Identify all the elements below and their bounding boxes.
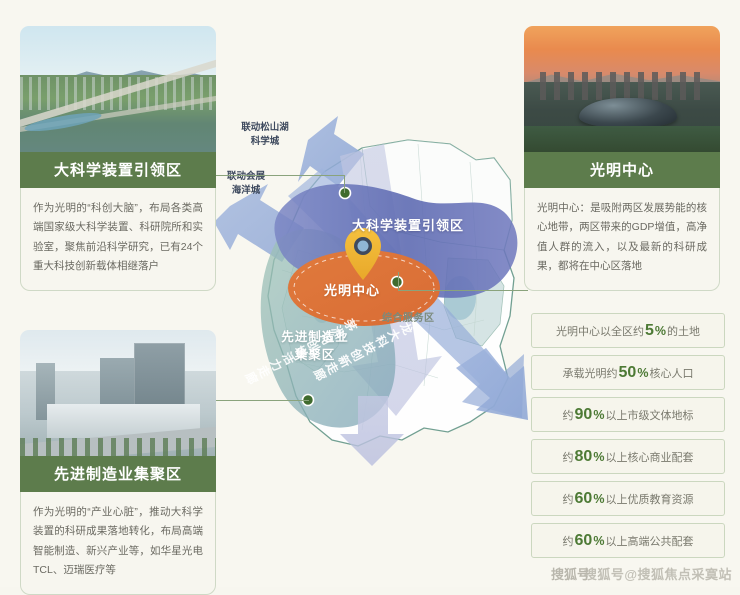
card-body-big-science: 作为光明的“科创大脑”，布局各类高端国家级大科学装置、科研院所和实验室，聚焦前沿… [20, 188, 216, 291]
stat-prefix-4: 约 [563, 491, 574, 507]
stat-item-1[interactable]: 承载光明约50%核心人口 [531, 355, 725, 390]
stat-item-2[interactable]: 约90%以上市级文体地标 [531, 397, 725, 432]
stat-value-2: 90 [575, 406, 593, 424]
arrow-label-huizhan: 联动会展 海洋城 [207, 170, 285, 199]
card-title-center: 光明中心 [524, 152, 720, 188]
card-photo-center [524, 26, 720, 154]
stat-unit-4: % [593, 492, 604, 506]
arrow-label-huizhan-line2: 海洋城 [207, 184, 285, 198]
stat-value-3: 80 [575, 448, 593, 466]
poster-root: 大科学装置引领区 光明中心 先进制造业 集聚区 综合服务区 茅洲河创增活力走廊 … [0, 0, 740, 587]
card-body-center: 光明中心：是吸附两区发展势能的核心地带，两区带来的GDP增值，高净值人群的流入，… [524, 188, 720, 291]
stat-value-1: 50 [619, 364, 637, 382]
card-body-manufacturing: 作为光明的“产业心脏”，推动大科学装置的科研成果落地转化，布局高端智能制造、新兴… [20, 492, 216, 595]
card-guangming-center[interactable]: 光明中心 光明中心：是吸附两区发展势能的核心地带，两区带来的GDP增值，高净值人… [524, 26, 720, 291]
stat-value-4: 60 [575, 490, 593, 508]
stat-suffix-3: 以上核心商业配套 [605, 449, 693, 465]
stat-item-5[interactable]: 约60%以上高端公共配套 [531, 523, 725, 558]
stat-prefix-0: 光明中心以全区约 [556, 323, 644, 339]
stat-item-0[interactable]: 光明中心以全区约5%的土地 [531, 313, 725, 348]
stat-prefix-5: 约 [563, 533, 574, 549]
stat-suffix-4: 以上优质教育资源 [605, 491, 693, 507]
stat-unit-5: % [593, 534, 604, 548]
zone-label-big-science: 大科学装置引领区 [352, 215, 464, 234]
stat-unit-2: % [593, 408, 604, 422]
stat-prefix-1: 承载光明约 [563, 365, 618, 381]
stat-suffix-1: 核心人口 [649, 365, 693, 381]
arrow-label-songshanhu-line1: 联动松山湖 [224, 121, 306, 135]
stat-suffix-0: 的土地 [667, 323, 700, 339]
card-title-big-science: 大科学装置引领区 [20, 152, 216, 188]
zone-label-center: 光明中心 [324, 280, 380, 299]
region-map: 大科学装置引领区 光明中心 先进制造业 集聚区 综合服务区 茅洲河创增活力走廊 … [212, 110, 542, 470]
stat-prefix-3: 约 [563, 449, 574, 465]
stat-prefix-2: 约 [563, 407, 574, 423]
card-big-science-zone[interactable]: 大科学装置引领区 作为光明的“科创大脑”，布局各类高端国家级大科学装置、科研院所… [20, 26, 216, 291]
stat-unit-0: % [655, 324, 666, 338]
stat-value-5: 60 [575, 532, 593, 550]
card-photo-manufacturing [20, 330, 216, 458]
card-advanced-manufacturing[interactable]: 先进制造业集聚区 作为光明的“产业心脏”，推动大科学装置的科研成果落地转化，布局… [20, 330, 216, 595]
arrow-label-huizhan-line1: 联动会展 [207, 170, 285, 184]
stat-item-3[interactable]: 约80%以上核心商业配套 [531, 439, 725, 474]
stat-unit-3: % [593, 450, 604, 464]
stat-item-4[interactable]: 约60%以上优质教育资源 [531, 481, 725, 516]
stat-suffix-5: 以上高端公共配套 [605, 533, 693, 549]
stat-suffix-2: 以上市级文体地标 [605, 407, 693, 423]
card-photo-big-science [20, 26, 216, 154]
card-title-manufacturing: 先进制造业集聚区 [20, 456, 216, 492]
stat-value-0: 5 [645, 322, 654, 340]
watermark-text: 搜狐号@搜狐焦点采寞站 [584, 564, 732, 583]
arrow-label-songshanhu-line2: 科学城 [224, 135, 306, 149]
stat-unit-1: % [637, 366, 648, 380]
arrow-label-songshanhu: 联动松山湖 科学城 [224, 121, 306, 150]
